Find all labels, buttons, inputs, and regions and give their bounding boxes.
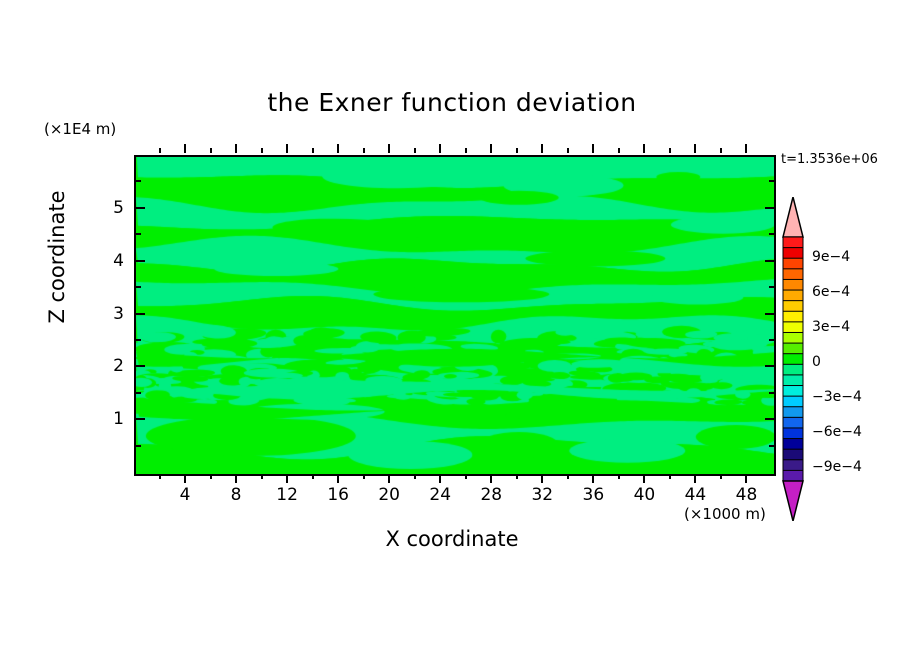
colorbar-label-0: 9e−4 — [812, 249, 850, 265]
x-tick-top-26 — [465, 148, 467, 153]
y-tick-right-3 — [765, 313, 774, 315]
x-tick-label-8: 8 — [231, 485, 242, 505]
y-tick-right-0.5 — [769, 445, 774, 447]
x-tick-top-42 — [669, 148, 671, 153]
x-tick-label-44: 44 — [685, 485, 707, 505]
x-tick-28 — [490, 474, 492, 483]
contour-field-canvas — [136, 157, 774, 474]
x-tick-label-36: 36 — [583, 485, 605, 505]
colorbar-cell-1 — [783, 248, 803, 259]
y-tick-2.5 — [136, 339, 141, 341]
colorbar-cell-10 — [783, 343, 803, 354]
plot-area — [134, 155, 776, 476]
colorbar-cell-18 — [783, 428, 803, 439]
x-tick-label-24: 24 — [429, 485, 451, 505]
y-tick-5.5 — [136, 180, 141, 182]
colorbar-cell-17 — [783, 417, 803, 428]
x-tick-top-32 — [541, 144, 543, 153]
x-axis-title: X coordinate — [0, 527, 904, 551]
x-tick-4 — [184, 474, 186, 483]
y-tick-2 — [136, 365, 145, 367]
y-axis-title: Z coordinate — [45, 162, 69, 352]
y-tick-label-1: 1 — [100, 409, 124, 429]
x-tick-top-48 — [745, 144, 747, 153]
colorbar-cell-19 — [783, 439, 803, 450]
x-axis-units-label: (×1000 m) — [684, 505, 766, 523]
x-tick-label-4: 4 — [180, 485, 191, 505]
colorbar-label-2: 3e−4 — [812, 319, 850, 335]
colorbar-cell-12 — [783, 364, 803, 375]
x-tick-40 — [643, 474, 645, 483]
x-tick-label-20: 20 — [378, 485, 400, 505]
colorbar-cell-7 — [783, 311, 803, 322]
x-tick-top-22 — [414, 148, 416, 153]
colorbar-cell-11 — [783, 354, 803, 365]
x-tick-label-48: 48 — [736, 485, 758, 505]
timestamp-annotation: t=1.3536e+06 — [781, 152, 878, 167]
y-tick-right-3.5 — [769, 286, 774, 288]
y-tick-right-5 — [765, 207, 774, 209]
x-tick-36 — [592, 474, 594, 483]
x-tick-32 — [541, 474, 543, 483]
y-tick-right-4 — [765, 260, 774, 262]
x-tick-label-32: 32 — [531, 485, 553, 505]
x-tick-16 — [337, 474, 339, 483]
x-tick-top-16 — [337, 144, 339, 153]
colorbar-cell-6 — [783, 301, 803, 312]
y-tick-right-1.5 — [769, 392, 774, 394]
x-tick-top-28 — [490, 144, 492, 153]
colorbar-cell-14 — [783, 386, 803, 397]
x-tick-24 — [439, 474, 441, 483]
colorbar-cell-16 — [783, 407, 803, 418]
y-tick-label-2: 2 — [100, 356, 124, 376]
y-tick-5 — [136, 207, 145, 209]
colorbar-cell-13 — [783, 375, 803, 386]
x-tick-top-14 — [312, 148, 314, 153]
colorbar-cell-0 — [783, 237, 803, 248]
x-tick-12 — [286, 474, 288, 483]
y-tick-1 — [136, 418, 145, 420]
x-tick-label-40: 40 — [634, 485, 656, 505]
colorbar-label-5: −6e−4 — [812, 424, 862, 440]
x-tick-6 — [210, 474, 212, 479]
x-tick-top-24 — [439, 144, 441, 153]
x-tick-label-16: 16 — [327, 485, 349, 505]
colorbar-cell-3 — [783, 269, 803, 280]
colorbar-gradient — [782, 197, 804, 521]
colorbar-extend-low — [783, 481, 803, 521]
y-tick-right-1 — [765, 418, 774, 420]
colorbar-cell-20 — [783, 449, 803, 460]
x-tick-top-20 — [388, 144, 390, 153]
x-tick-top-8 — [235, 144, 237, 153]
x-tick-46 — [720, 474, 722, 479]
x-tick-18 — [363, 474, 365, 479]
page-title: the Exner function deviation — [0, 88, 904, 117]
x-tick-14 — [312, 474, 314, 479]
colorbar-cell-5 — [783, 290, 803, 301]
x-tick-42 — [669, 474, 671, 479]
colorbar-cell-8 — [783, 322, 803, 333]
x-tick-44 — [694, 474, 696, 483]
y-tick-4 — [136, 260, 145, 262]
y-tick-3.5 — [136, 286, 141, 288]
x-tick-34 — [567, 474, 569, 479]
x-tick-top-18 — [363, 148, 365, 153]
x-tick-top-10 — [261, 148, 263, 153]
y-tick-right-4.5 — [769, 233, 774, 235]
x-tick-20 — [388, 474, 390, 483]
colorbar — [782, 197, 804, 521]
colorbar-label-1: 6e−4 — [812, 284, 850, 300]
plot-figure: the Exner function deviation (×1E4 m) t=… — [0, 0, 904, 654]
colorbar-cell-22 — [783, 470, 803, 481]
y-tick-label-4: 4 — [100, 251, 124, 271]
x-tick-2 — [159, 474, 161, 479]
y-tick-4.5 — [136, 233, 141, 235]
colorbar-cell-9 — [783, 332, 803, 343]
x-tick-label-12: 12 — [276, 485, 298, 505]
x-tick-8 — [235, 474, 237, 483]
y-tick-1.5 — [136, 392, 141, 394]
y-tick-right-5.5 — [769, 180, 774, 182]
y-tick-label-5: 5 — [100, 198, 124, 218]
x-tick-48 — [745, 474, 747, 483]
x-tick-top-4 — [184, 144, 186, 153]
colorbar-cell-4 — [783, 279, 803, 290]
x-tick-top-36 — [592, 144, 594, 153]
x-tick-top-46 — [720, 148, 722, 153]
x-tick-top-38 — [618, 148, 620, 153]
colorbar-extend-high — [783, 197, 803, 237]
y-tick-0.5 — [136, 445, 141, 447]
colorbar-cell-21 — [783, 460, 803, 471]
colorbar-cell-2 — [783, 258, 803, 269]
x-tick-30 — [516, 474, 518, 479]
colorbar-label-4: −3e−4 — [812, 389, 862, 405]
y-axis-units-label: (×1E4 m) — [44, 120, 116, 138]
x-tick-top-2 — [159, 148, 161, 153]
x-tick-top-6 — [210, 148, 212, 153]
x-tick-26 — [465, 474, 467, 479]
colorbar-label-3: 0 — [812, 354, 821, 370]
x-tick-top-44 — [694, 144, 696, 153]
colorbar-label-6: −9e−4 — [812, 459, 862, 475]
colorbar-cell-15 — [783, 396, 803, 407]
x-tick-top-12 — [286, 144, 288, 153]
x-tick-top-34 — [567, 148, 569, 153]
x-tick-top-40 — [643, 144, 645, 153]
x-tick-label-28: 28 — [480, 485, 502, 505]
x-tick-38 — [618, 474, 620, 479]
x-tick-10 — [261, 474, 263, 479]
y-tick-3 — [136, 313, 145, 315]
y-tick-right-2 — [765, 365, 774, 367]
y-tick-label-3: 3 — [100, 304, 124, 324]
x-tick-top-30 — [516, 148, 518, 153]
x-tick-22 — [414, 474, 416, 479]
y-tick-right-2.5 — [769, 339, 774, 341]
